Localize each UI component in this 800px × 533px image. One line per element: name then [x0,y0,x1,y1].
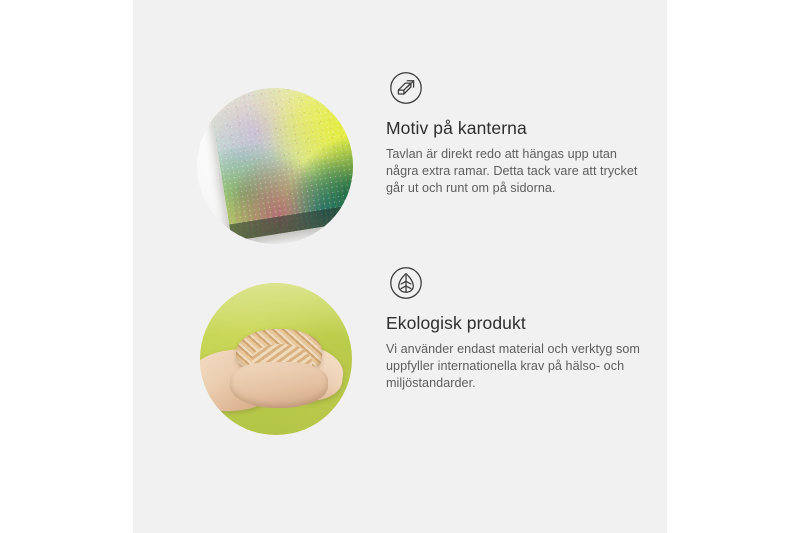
feature-body: Tavlan är direkt redo att hängas upp uta… [386,146,646,198]
feature-heading: Ekologisk produkt [386,313,658,334]
product-feature-banner: Motiv på kanterna Tavlan är direkt redo … [0,0,800,533]
canvas-corner-photo [197,88,353,244]
feature-text-canvas-edges: Motiv på kanterna Tavlan är direkt redo … [386,118,646,198]
content-panel: Motiv på kanterna Tavlan är direkt redo … [133,0,667,533]
leaf-icon [386,263,426,303]
canvas-block [208,88,353,241]
fingers [230,362,327,408]
canvas-edge-print-icon [386,68,426,108]
background-highlight [200,283,352,335]
feature-heading: Motiv på kanterna [386,118,646,139]
feature-text-eco-product: Ekologisk produkt Vi använder endast mat… [386,313,658,393]
wood-chips-in-hands-photo [200,283,352,435]
feature-body: Vi använder endast material och verktyg … [386,341,658,393]
